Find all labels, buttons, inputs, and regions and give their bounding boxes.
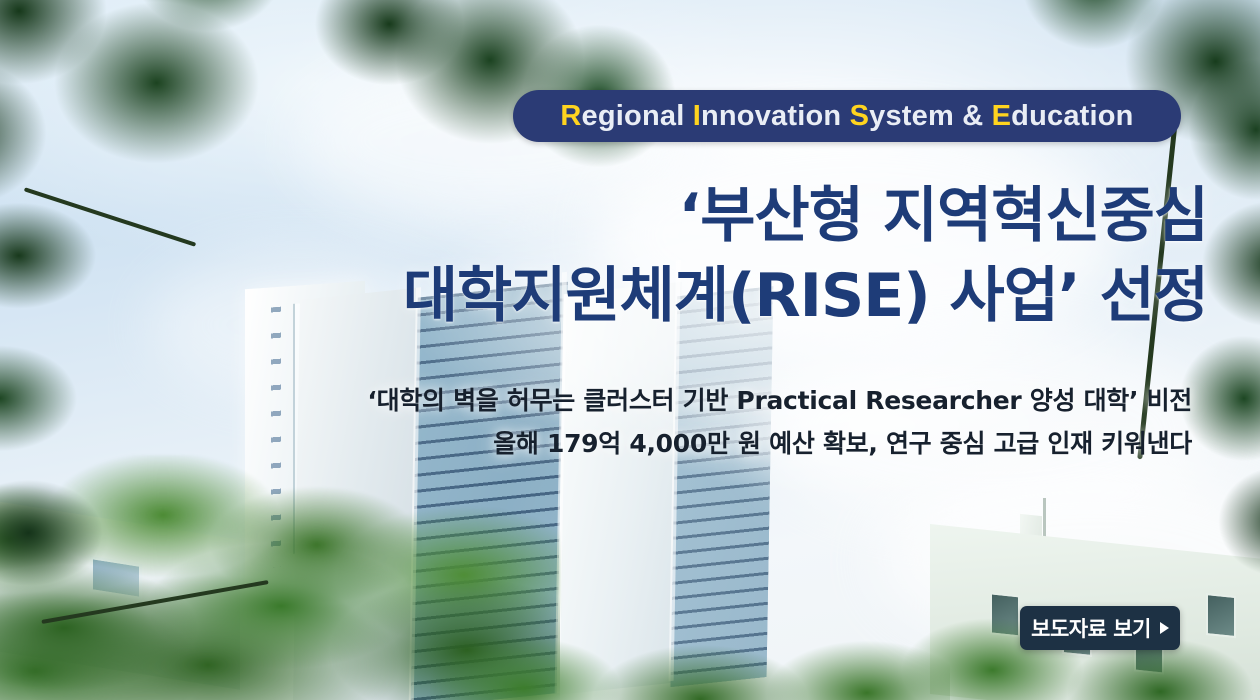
rise-acronym-badge: Regional Innovation System & Education — [513, 90, 1181, 142]
play-triangle-right-icon — [1160, 622, 1169, 634]
rise-promo-banner: 동아대학교 — [0, 0, 1260, 700]
press-release-button-label: 보도자료 보기 — [1031, 613, 1151, 643]
badge-word: ducation — [1011, 100, 1133, 132]
badge-word: egional — [582, 100, 693, 132]
headline-line-2: 대학지원체계(RISE) 사업’ 선정 — [0, 256, 1208, 336]
badge-word: nnovation — [701, 100, 850, 132]
banner-content: Regional Innovation System & Education ‘… — [0, 0, 1260, 700]
badge-initial: S — [850, 100, 870, 132]
badge-word: ystem & — [869, 100, 992, 132]
page-title: ‘부산형 지역혁신중심 대학지원체계(RISE) 사업’ 선정 — [0, 176, 1208, 336]
subtitle-line-2: 올해 179억 4,000만 원 예산 확보, 연구 중심 고급 인재 키워낸다 — [0, 424, 1192, 460]
badge-text: Regional Innovation System & Education — [560, 100, 1133, 133]
headline-line-1: ‘부산형 지역혁신중심 — [0, 176, 1208, 256]
press-release-button[interactable]: 보도자료 보기 — [1020, 606, 1180, 650]
badge-initial: I — [693, 100, 701, 132]
badge-initial: E — [992, 100, 1012, 132]
badge-initial: R — [560, 100, 581, 132]
subtitle-line-1: ‘대학의 벽을 허무는 클러스터 기반 Practical Researcher… — [0, 381, 1192, 417]
